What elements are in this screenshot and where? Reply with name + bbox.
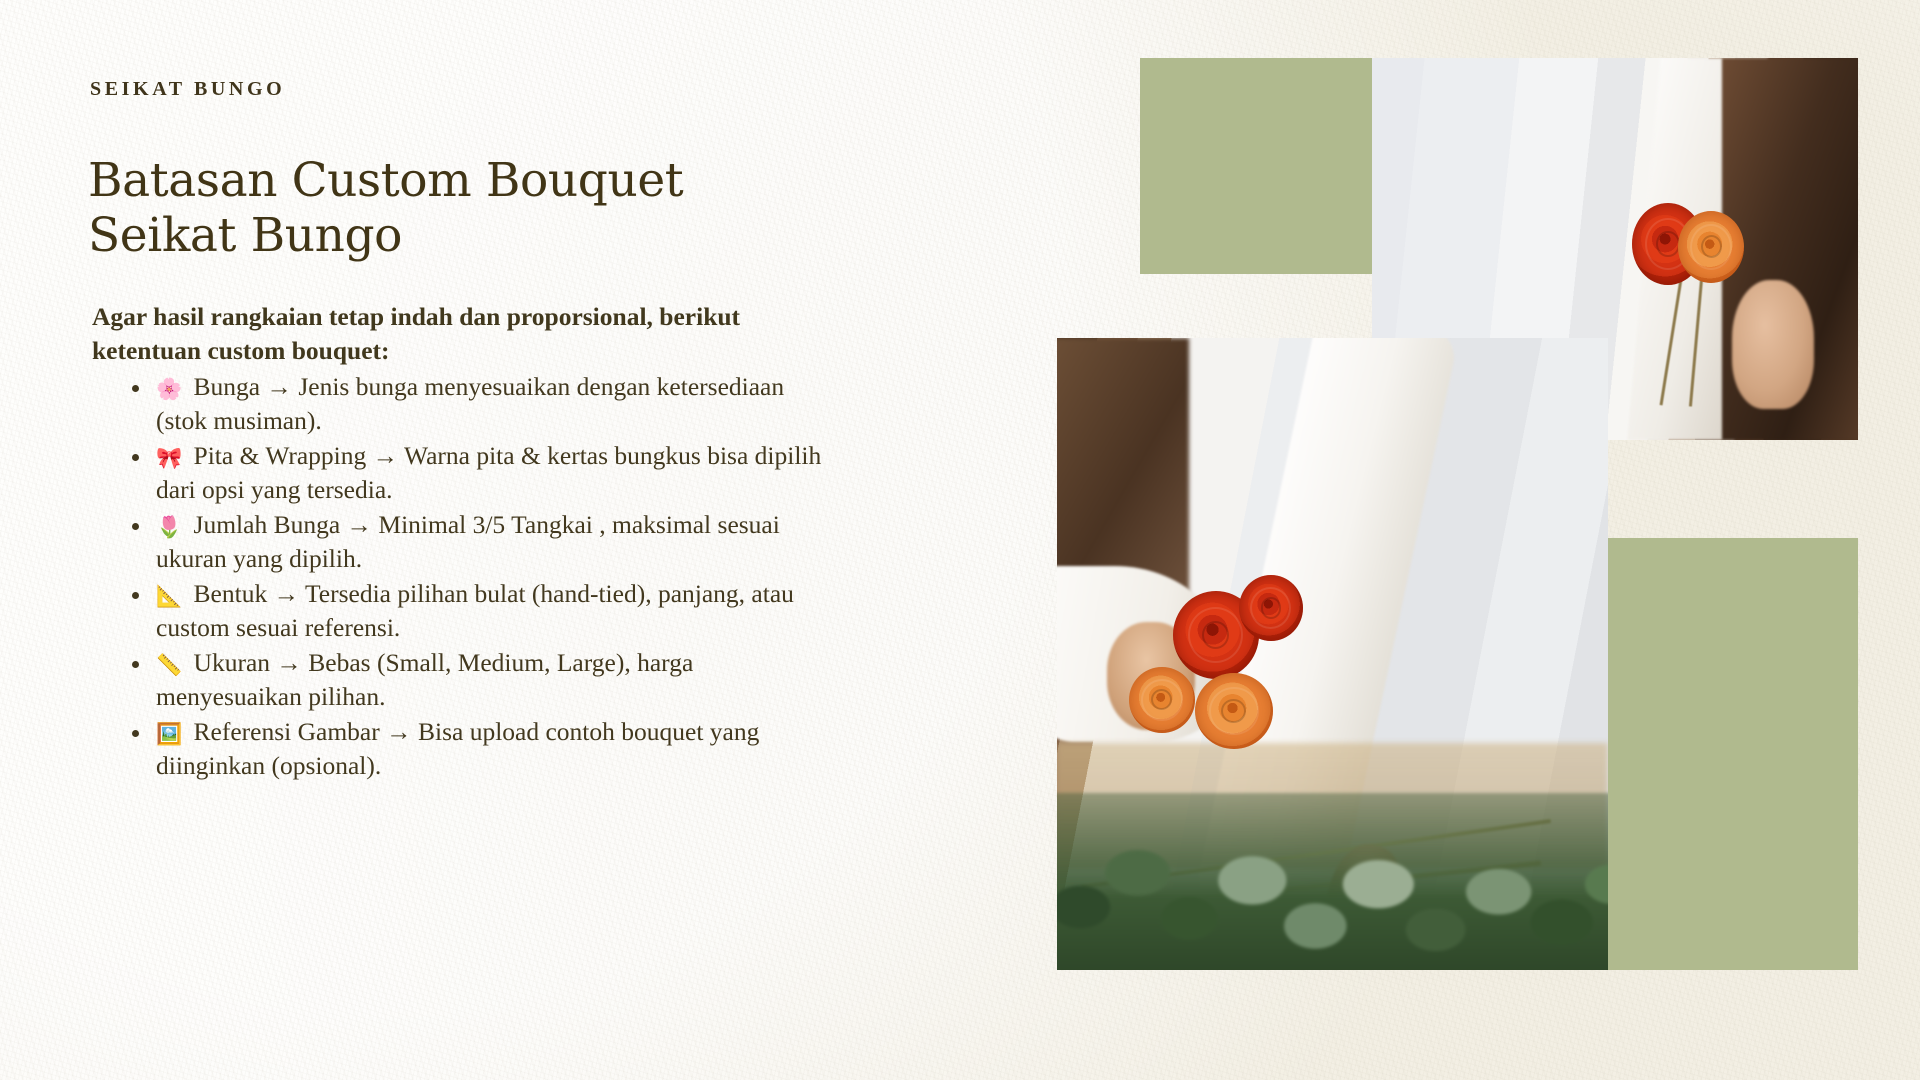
text-column: SEIKAT BUNGO Batasan Custom Bouquet Seik… [88,78,828,784]
framed-picture-icon: 🖼️ [156,724,182,745]
list-item: 📐 Bentuk → Tersedia pilihan bulat (hand-… [126,577,828,645]
photo-hand [1732,280,1815,410]
list-item: 🌸 Bunga → Jenis bunga menyesuaikan denga… [126,370,828,438]
brand-eyebrow: SEIKAT BUNGO [90,78,828,101]
photo-eucalyptus-foliage [1057,793,1608,970]
list-item-text: Bentuk → Tersedia pilihan bulat (hand-ti… [156,579,794,642]
orange-rose [1678,211,1744,283]
green-block-top [1140,58,1372,274]
orange-rose [1195,673,1273,749]
lead-paragraph: Agar hasil rangkaian tetap indah dan pro… [92,300,828,368]
list-item: 🎀 Pita & Wrapping → Warna pita & kertas … [126,439,828,507]
requirements-list: 🌸 Bunga → Jenis bunga menyesuaikan denga… [88,370,828,783]
orange-rose [1129,667,1195,733]
list-item: 🌷 Jumlah Bunga → Minimal 3/5 Tangkai , m… [126,508,828,576]
list-item: 🖼️ Referensi Gambar → Bisa upload contoh… [126,715,828,783]
tulip-icon: 🌷 [156,517,182,538]
photo-florist-arranging-bouquet [1057,338,1608,970]
list-item-text: Jumlah Bunga → Minimal 3/5 Tangkai , mak… [156,510,780,573]
triangular-ruler-icon: 📐 [156,586,182,607]
cherry-blossom-icon: 🌸 [156,379,182,400]
red-rose [1239,575,1303,641]
list-item: 📏 Ukuran → Bebas (Small, Medium, Large),… [126,646,828,714]
list-item-text: Bunga → Jenis bunga menyesuaikan dengan … [156,372,784,435]
list-item-text: Referensi Gambar → Bisa upload contoh bo… [156,717,759,780]
straight-ruler-icon: 📏 [156,655,182,676]
green-block-bottom [1608,538,1858,970]
list-item-text: Ukuran → Bebas (Small, Medium, Large), h… [156,648,693,711]
ribbon-icon: 🎀 [156,448,182,469]
list-item-text: Pita & Wrapping → Warna pita & kertas bu… [156,441,821,504]
page-title: Batasan Custom Bouquet Seikat Bungo [88,153,828,264]
